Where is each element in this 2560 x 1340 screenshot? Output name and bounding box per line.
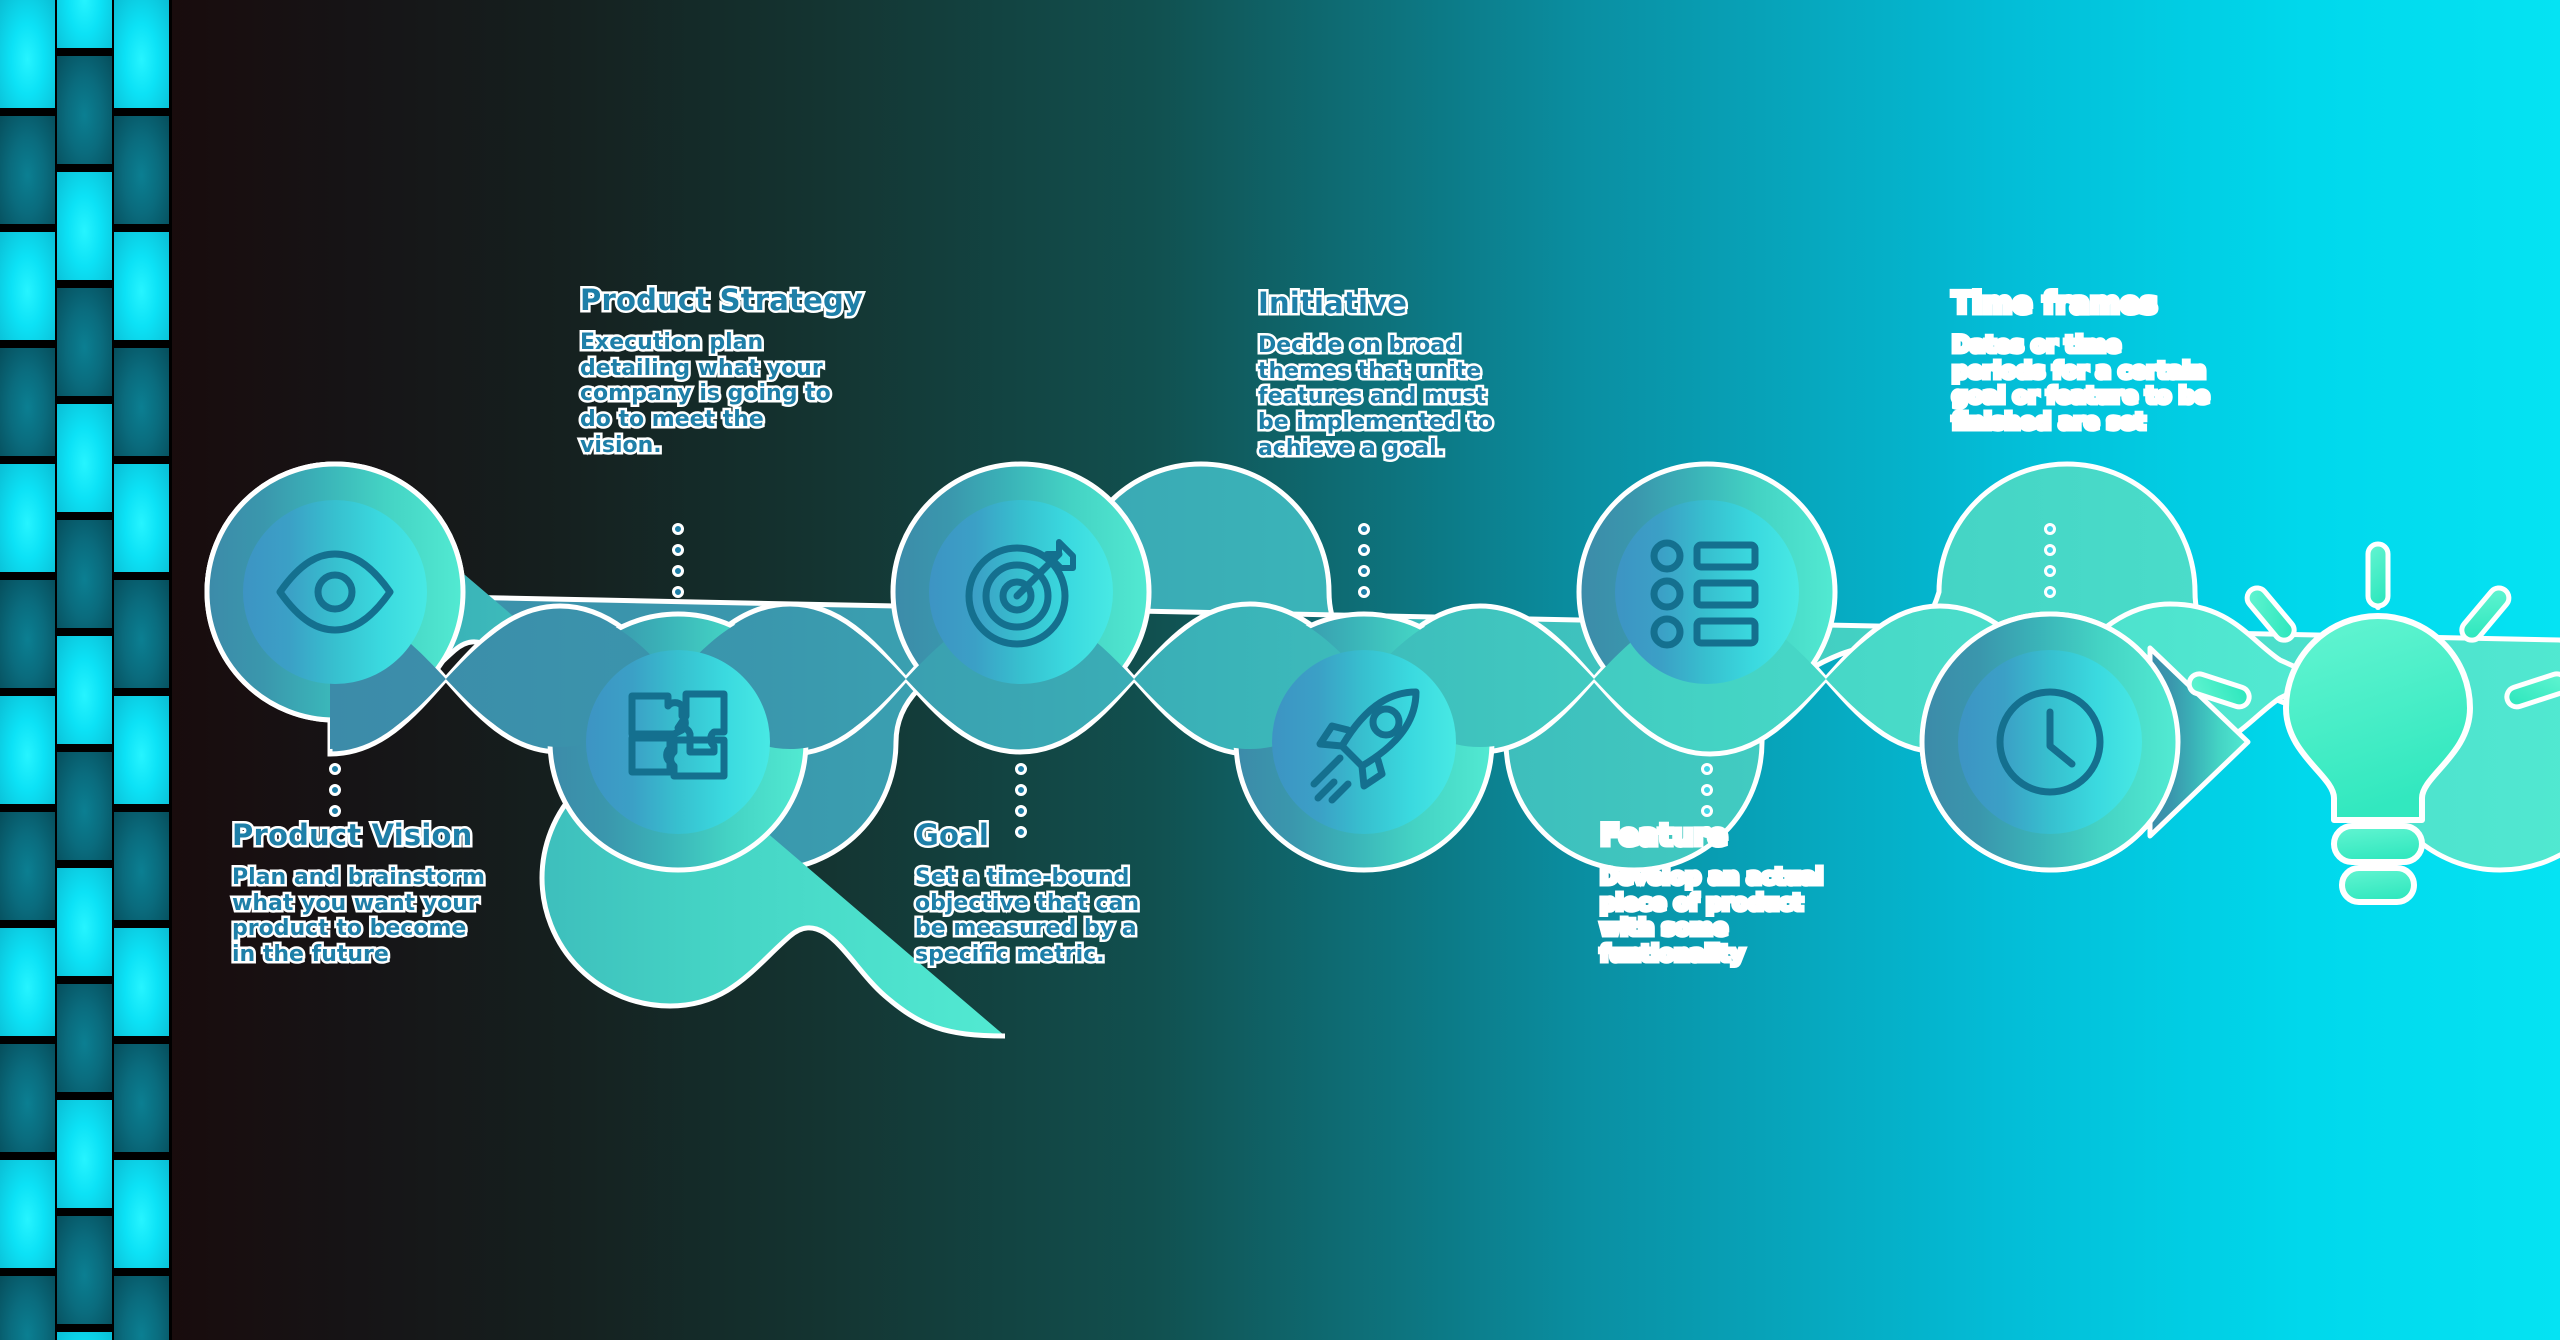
step-title: Initiative xyxy=(1258,288,1588,318)
infographic-canvas: Product Vision Plan and brainstorm what … xyxy=(0,0,2560,1340)
step-block-feature: Feature Develop an actual piece of produ… xyxy=(1600,820,1930,968)
step-title: Time frames xyxy=(1952,288,2282,318)
bulb-base-1 xyxy=(2334,826,2422,862)
step-block-product-strategy: Product Strategy Execution plan detailin… xyxy=(580,285,910,458)
step-title: Goal xyxy=(915,820,1245,850)
dot-connector-4 xyxy=(1358,523,1370,598)
inner-4 xyxy=(1272,650,1456,834)
step-body: Set a time-bound objective that can be m… xyxy=(915,865,1245,967)
step-block-product-vision: Product Vision Plan and brainstorm what … xyxy=(232,820,562,968)
bulb-base-2 xyxy=(2342,868,2414,902)
inner-1 xyxy=(243,500,427,684)
dot-connector-2 xyxy=(672,523,684,598)
step-body: Dates or time periods for a certain goal… xyxy=(1952,333,2282,435)
step-body: Execution plan detailing what your compa… xyxy=(580,330,910,458)
step-title: Product Strategy xyxy=(580,285,910,315)
dot-connector-6 xyxy=(2044,523,2056,598)
step-block-goal: Goal Set a time-bound objective that can… xyxy=(915,820,1245,968)
step-title: Feature xyxy=(1600,820,1930,850)
step-body: Develop an actual piece of product with … xyxy=(1600,865,1930,967)
inner-5 xyxy=(1615,500,1799,684)
step-body: Decide on broad themes that unite featur… xyxy=(1258,333,1588,461)
step-body: Plan and brainstorm what you want your p… xyxy=(232,865,562,967)
flow-diagram xyxy=(0,0,2560,1340)
step-block-initiative: Initiative Decide on broad themes that u… xyxy=(1258,288,1588,461)
step-block-time-frames: Time frames Dates or time periods for a … xyxy=(1952,288,2282,436)
step-title: Product Vision xyxy=(232,820,562,850)
